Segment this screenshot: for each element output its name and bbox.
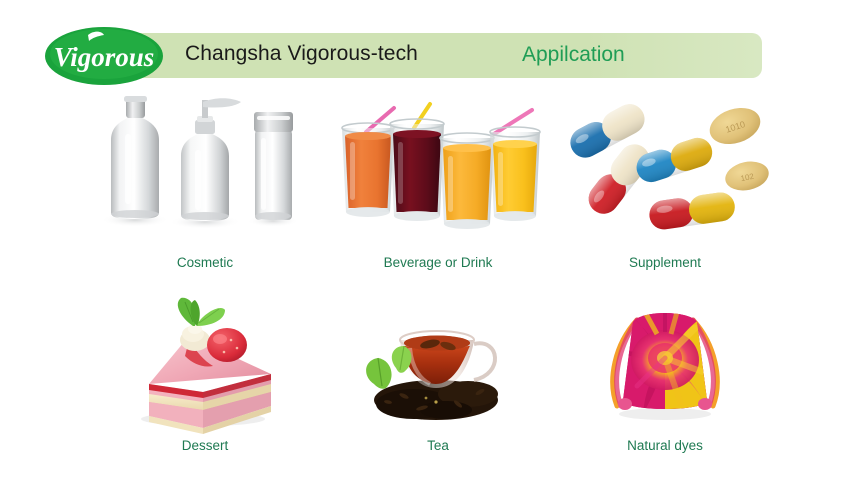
caption-natural-dyes: Natural dyes xyxy=(627,438,703,453)
capsules-image: 1010 102 xyxy=(545,88,785,238)
bag-shadow xyxy=(619,408,711,420)
caption-wrap-cosmetic: Cosmetic xyxy=(85,254,325,272)
cosmetic-bottles-image xyxy=(85,88,325,238)
product-cell-cosmetic xyxy=(85,88,325,238)
caption-wrap-natural-dyes: Natural dyes xyxy=(545,437,785,455)
tea-cup-image xyxy=(318,288,558,438)
caption-wrap-supplement: Supplement xyxy=(545,254,785,272)
caption-wrap-dessert: Dessert xyxy=(85,437,325,455)
caption-supplement: Supplement xyxy=(629,255,701,270)
bottle-slim xyxy=(254,112,293,220)
glass-carrot xyxy=(342,123,394,217)
caption-beverage: Beverage or Drink xyxy=(384,255,493,270)
logo-text: Vigorous xyxy=(54,42,155,72)
strawberry xyxy=(207,328,247,362)
caption-wrap-beverage: Beverage or Drink xyxy=(318,254,558,272)
glass-yellow xyxy=(490,127,540,221)
application-title: Appilcation xyxy=(522,43,625,67)
tablet-oval-lower: 102 xyxy=(723,158,772,195)
capsule-blue-yellow xyxy=(633,134,716,186)
juice-glasses-image xyxy=(318,88,558,238)
caption-cosmetic: Cosmetic xyxy=(177,255,233,270)
tie-dye-bag-image xyxy=(545,288,785,438)
tablet-oval-upper: 1010 xyxy=(705,102,765,150)
glass-orange xyxy=(440,133,494,229)
product-cell-tea xyxy=(318,288,558,438)
product-cell-beverage xyxy=(318,88,558,238)
product-cell-dessert xyxy=(85,288,325,438)
bag-body xyxy=(615,306,721,418)
vigorous-logo: Vigorous xyxy=(44,26,164,86)
green-tea-leaves xyxy=(366,346,411,389)
bottle-tall xyxy=(111,96,159,219)
glass-berry xyxy=(390,119,444,221)
product-cell-supplement: 1010 102 xyxy=(545,88,785,238)
tea-glass-cup xyxy=(400,331,495,388)
cake-slice-image xyxy=(85,288,325,438)
bottle-pump xyxy=(181,98,241,221)
caption-wrap-tea: Tea xyxy=(318,437,558,455)
company-title: Changsha Vigorous-tech xyxy=(185,42,418,66)
caption-tea: Tea xyxy=(427,438,449,453)
caption-dessert: Dessert xyxy=(182,438,229,453)
capsule-red-yellow xyxy=(647,191,736,232)
whipped-cream xyxy=(180,324,210,351)
mint-leaves xyxy=(178,298,225,326)
product-cell-natural-dyes xyxy=(545,288,785,438)
